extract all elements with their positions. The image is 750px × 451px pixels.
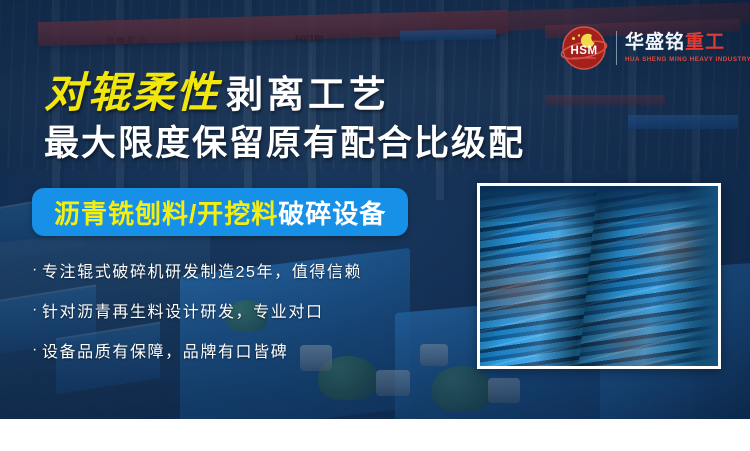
bullet-dot-icon: · [32,301,39,319]
product-photo-frame [477,183,721,369]
list-item-label: 设备品质有保障，品牌有口皆碑 [42,338,288,362]
brand-logo: HSM 华盛铭重工 HUA SHENG MING HEAVY INDUSTRY [560,22,742,74]
page-white-margin [0,419,750,451]
logo-wordmark: 华盛铭重工 HUA SHENG MING HEAVY INDUSTRY [625,33,750,63]
bullet-dot-icon: · [32,261,39,279]
logo-company-name-en: HUA SHENG MING HEAVY INDUSTRY [625,56,750,63]
product-category-pill: 沥青铣刨料/开挖料破碎设备 [32,188,408,236]
headline-line-1: 对辊柔性剥离工艺 [44,72,390,114]
promo-banner: 河南矿山 50/10t [0,0,750,419]
headline-line-2: 最大限度保留原有配合比级配 [44,126,525,163]
svg-text:HSM: HSM [570,45,597,57]
headline-rest: 剥离工艺 [226,74,390,115]
hsm-saturn-crescent-moon-stars-icon: HSM [560,24,608,72]
photo-right-edge-shadow [684,186,718,366]
pill-rest-text: 破碎设备 [278,194,386,231]
selling-point-list: · 专注辊式破碎机研发制造25年，值得信赖 · 针对沥青再生料设计研发，专业对口… [32,258,462,378]
list-item: · 专注辊式破碎机研发制造25年，值得信赖 [32,258,462,282]
logo-company-suffix-cn: 重工 [685,32,725,53]
logo-divider [616,31,617,65]
logo-company-name-cn: 华盛铭 [625,32,685,53]
logo-company-name: 华盛铭重工 [625,33,750,53]
photo-top-shadow [480,186,718,222]
product-photo-twin-roll-crusher [480,186,718,366]
list-item-label: 针对沥青再生料设计研发，专业对口 [42,298,324,322]
bullet-dot-icon: · [32,341,39,359]
list-item: · 设备品质有保障，品牌有口皆碑 [32,338,462,362]
list-item: · 针对沥青再生料设计研发，专业对口 [32,298,462,322]
pill-highlight-text: 沥青铣刨料/开挖料 [54,194,278,231]
list-item-label: 专注辊式破碎机研发制造25年，值得信赖 [42,258,362,282]
headline-highlight: 对辊柔性 [44,68,220,117]
